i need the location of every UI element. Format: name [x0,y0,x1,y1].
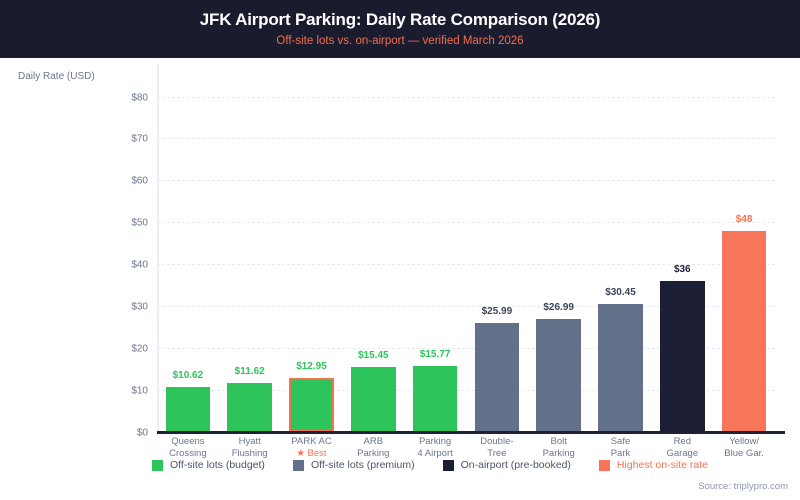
x-axis-category: QueensCrossing [157,436,219,460]
bar-value-label: $15.45 [351,350,395,361]
x-axis-category: Parking4 Airport [404,436,466,460]
legend-item[interactable]: On-airport (pre-booked) [443,459,571,471]
x-axis-category: Yellow/Blue Gar. [713,436,775,460]
bar[interactable] [475,323,519,432]
bar-value-label: $30.45 [598,287,642,298]
bar-slot: $15.45 [351,63,395,432]
bar[interactable] [660,281,704,432]
x-axis-category: HyattFlushing [219,436,281,460]
x-axis-category: PARK AC★ Best [281,436,343,460]
x-axis-category: SafePark [590,436,652,460]
bar-value-label: $48 [722,214,766,225]
bar-slot: $30.45 [598,63,642,432]
bar-value-label: $15.77 [413,349,457,360]
bar[interactable] [722,231,766,432]
bar-slot: $48 [722,63,766,432]
category-line-1: ARB [364,436,384,447]
bar-value-label: $12.95 [289,361,333,372]
category-line-1: PARK AC [291,436,331,447]
category-line-1: Safe [611,436,631,447]
y-axis-tick: $40 [131,260,148,271]
category-line-1: Double- [480,436,513,447]
y-axis-tick: $20 [131,344,148,355]
chart-legend: Off-site lots (budget)Off-site lots (pre… [152,459,736,471]
y-axis-tick: $30 [131,302,148,313]
y-axis-tick: $60 [131,176,148,187]
legend-label: Highest on-site rate [617,459,708,471]
legend-label: Off-site lots (premium) [311,459,415,471]
legend-swatch-icon [152,460,163,471]
bar-value-label: $36 [660,264,704,275]
x-axis-category: BoltParking [528,436,590,460]
bar[interactable] [166,387,210,432]
y-axis-tick: $50 [131,218,148,229]
bar-slot: $26.99 [536,63,580,432]
legend-label: On-airport (pre-booked) [461,459,571,471]
bar[interactable] [227,383,271,432]
x-axis-category: Double-Tree [466,436,528,460]
legend-swatch-icon [293,460,304,471]
y-axis-label: Daily Rate (USD) [18,71,95,82]
legend-item[interactable]: Highest on-site rate [599,459,708,471]
category-line-1: Bolt [551,436,567,447]
legend-swatch-icon [443,460,454,471]
legend-item[interactable]: Off-site lots (budget) [152,459,265,471]
bar-slot: $25.99 [475,63,519,432]
bar[interactable] [351,367,395,432]
bar-value-label: $25.99 [475,306,519,317]
x-axis-baseline [157,431,785,434]
page-title: JFK Airport Parking: Daily Rate Comparis… [200,10,601,30]
bar-slot: $36 [660,63,704,432]
bar[interactable] [536,319,580,432]
bar[interactable] [289,378,333,432]
y-axis-tick: $0 [137,428,148,439]
chart-page: JFK Airport Parking: Daily Rate Comparis… [0,0,800,500]
y-axis-tick: $80 [131,92,148,103]
x-axis-categories: QueensCrossingHyattFlushingPARK AC★ Best… [157,436,775,480]
bar-series: $10.62$11.62$12.95$15.45$15.77$25.99$26.… [157,63,775,432]
legend-item[interactable]: Off-site lots (premium) [293,459,415,471]
category-line-1: Red [674,436,691,447]
y-axis-tick: $10 [131,386,148,397]
category-line-1: Hyatt [239,436,261,447]
x-axis-category: ARBParking [342,436,404,460]
bar-value-label: $10.62 [166,370,210,381]
chart-header: JFK Airport Parking: Daily Rate Comparis… [0,0,800,58]
bar-slot: $10.62 [166,63,210,432]
category-line-1: Queens [171,436,204,447]
bar-slot: $15.77 [413,63,457,432]
category-line-1: Parking [419,436,451,447]
bar-value-label: $26.99 [536,302,580,313]
bar[interactable] [413,366,457,432]
y-axis-tick: $70 [131,134,148,145]
legend-label: Off-site lots (budget) [170,459,265,471]
bar[interactable] [598,304,642,432]
bar-slot: $12.95 [289,63,333,432]
bar-slot: $11.62 [227,63,271,432]
bar-value-label: $11.62 [227,366,271,377]
legend-swatch-icon [599,460,610,471]
x-axis-category: RedGarage [651,436,713,460]
page-subtitle: Off-site lots vs. on-airport — verified … [276,34,523,48]
source-caption: Source: triplypro.com [698,481,788,492]
category-line-1: Yellow/ [729,436,759,447]
plot-area: $0$10$20$30$40$50$60$70$80 $10.62$11.62$… [157,63,775,432]
